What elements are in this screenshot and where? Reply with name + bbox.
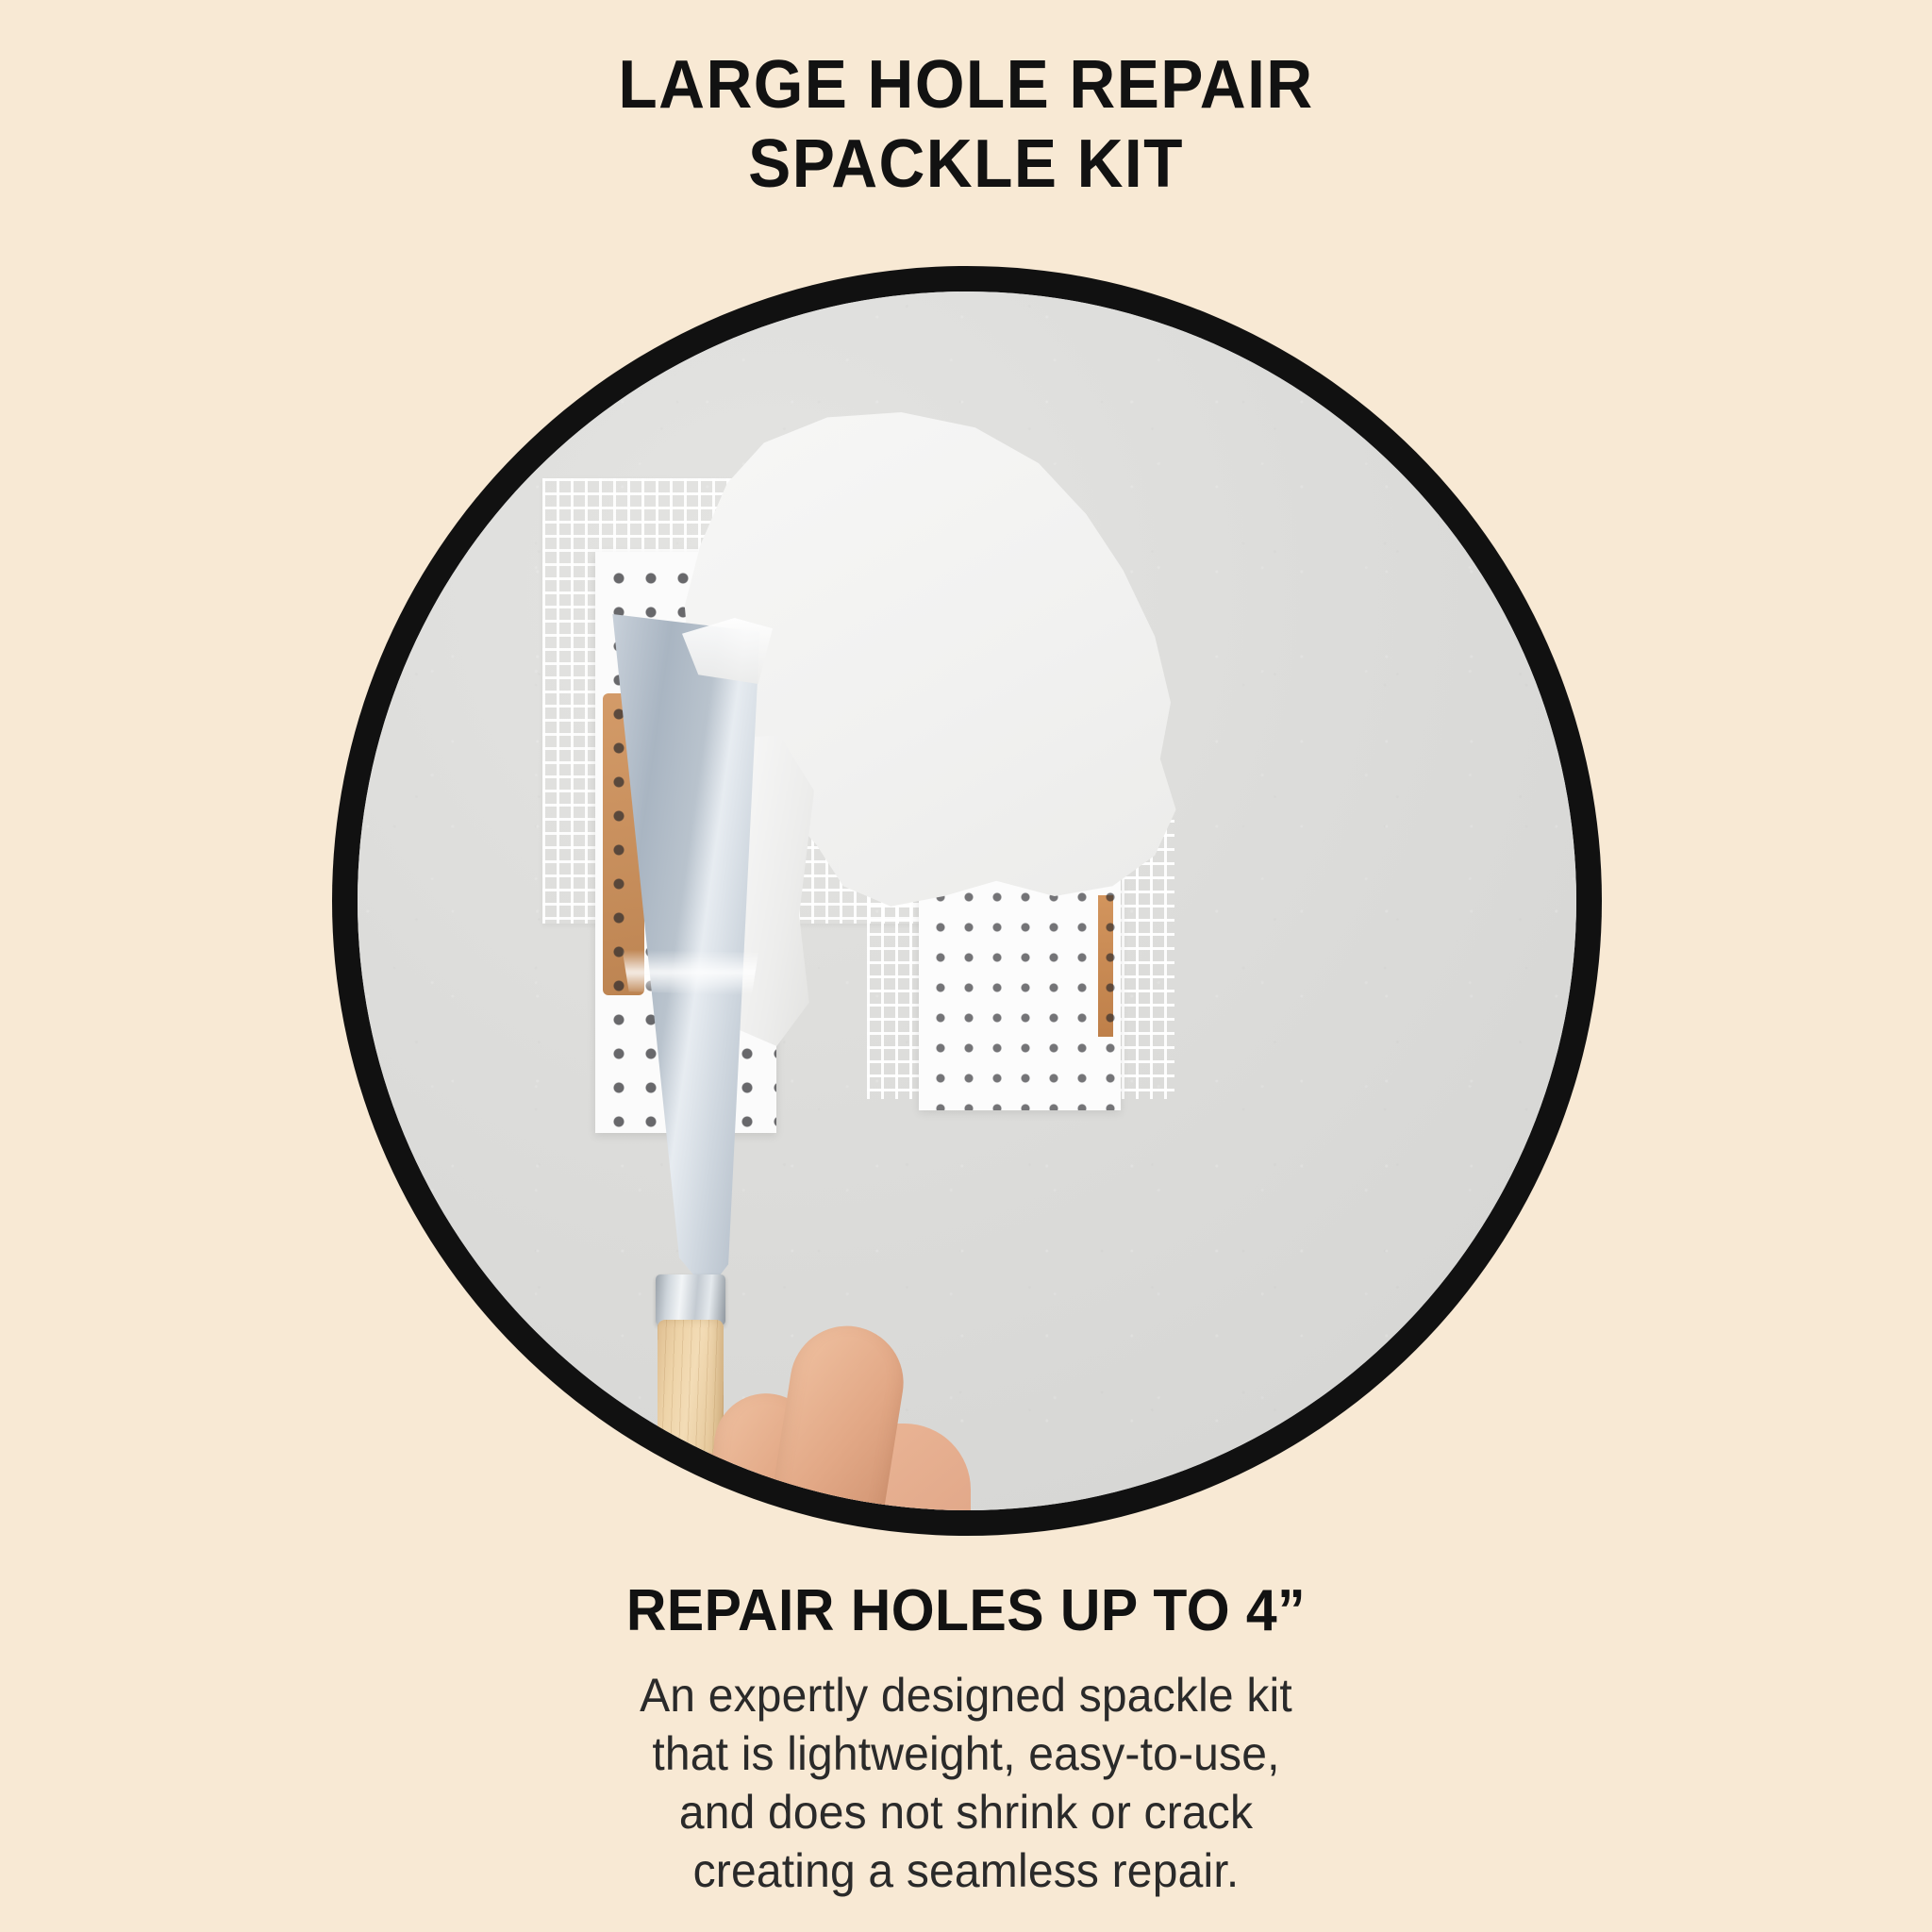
description-line-3: and does not shrink or crack — [39, 1783, 1893, 1841]
hand — [641, 1320, 952, 1510]
title-line-2: SPACKLE KIT — [58, 125, 1874, 204]
knife-ferrule — [656, 1274, 725, 1325]
blade-highlight — [599, 950, 765, 995]
headline: REPAIR HOLES UP TO 4” — [48, 1577, 1884, 1644]
description-line-2: that is lightweight, easy-to-use, — [39, 1724, 1893, 1783]
product-photo-ring — [332, 266, 1602, 1536]
plate-perforations-lower — [919, 874, 1121, 1110]
description: An expertly designed spackle kit that is… — [39, 1666, 1893, 1900]
perforated-metal-plate-lower — [919, 874, 1121, 1110]
title-line-1: LARGE HOLE REPAIR — [58, 45, 1874, 125]
page-title: LARGE HOLE REPAIR SPACKLE KIT — [0, 45, 1932, 204]
description-line-1: An expertly designed spackle kit — [39, 1666, 1893, 1724]
description-line-4: creating a seamless repair. — [39, 1841, 1893, 1900]
product-photo — [358, 291, 1576, 1510]
